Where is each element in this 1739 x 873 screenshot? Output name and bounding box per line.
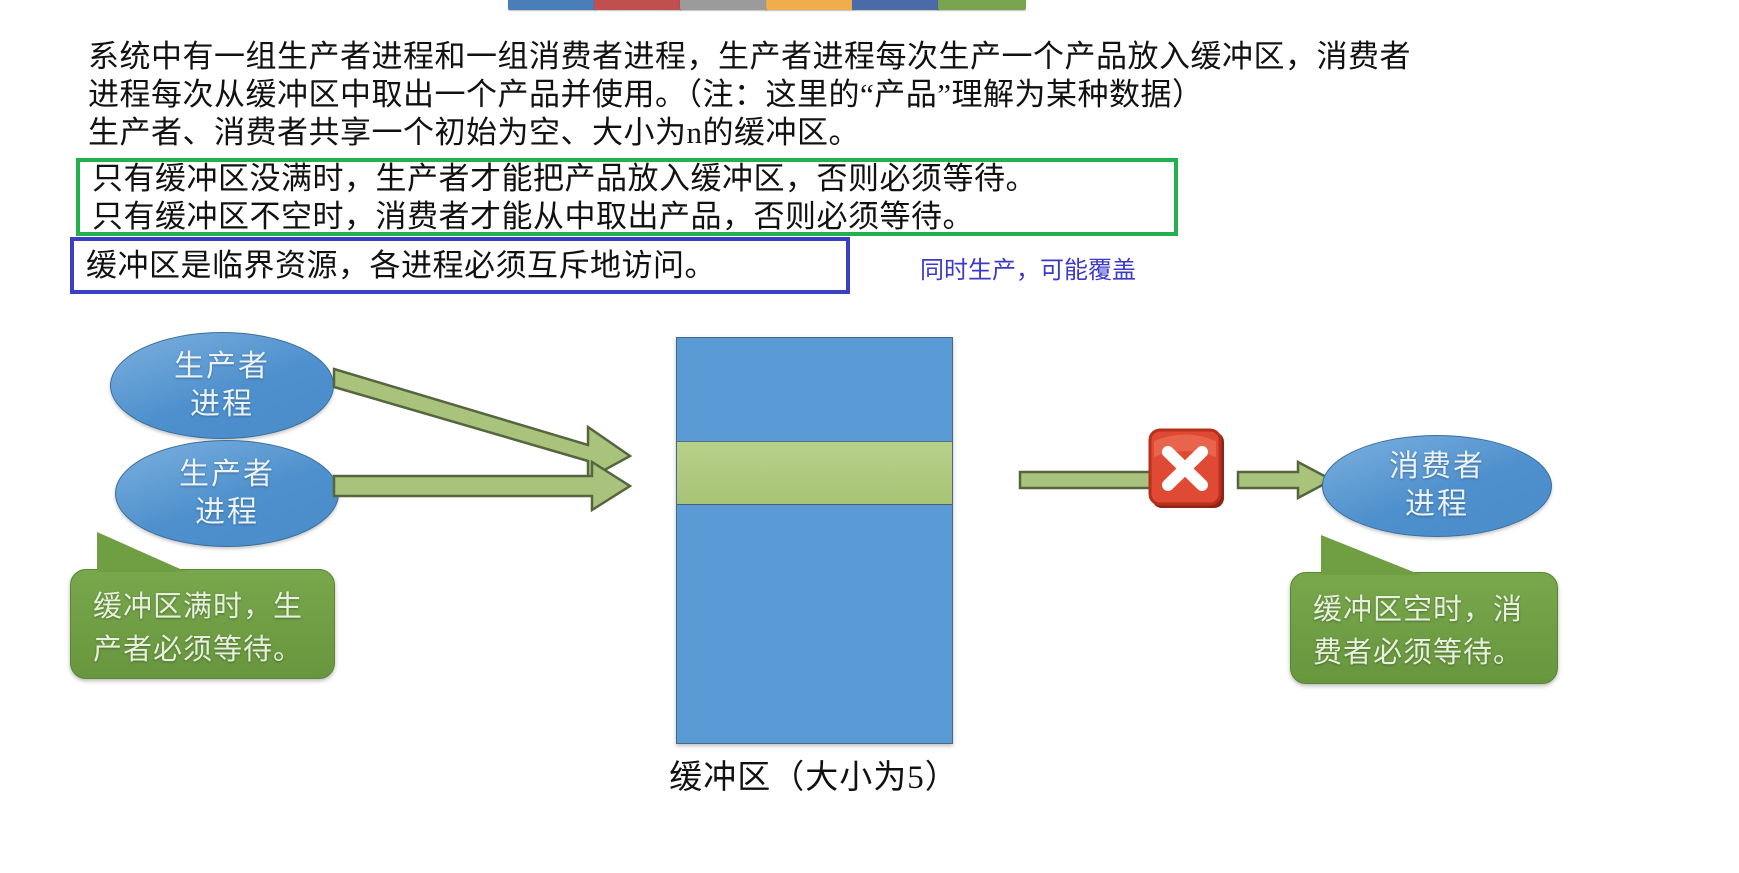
chip-navy <box>852 0 940 10</box>
producer-process-node-1: 生产者 进程 <box>110 332 334 439</box>
green-rule-line-1: 只有缓冲区没满时，生产者才能把产品放入缓冲区，否则必须等待。 <box>92 160 1037 198</box>
consumer-process-node: 消费者 进程 <box>1322 435 1552 537</box>
producer-1-label-line2: 进程 <box>190 386 254 424</box>
callout-left-line1: 缓冲区满时，生 <box>93 586 314 629</box>
callout-right-line1: 缓冲区空时，消 <box>1313 589 1537 632</box>
arrow-producer2-to-buffer <box>330 460 680 520</box>
green-rule-box: 只有缓冲区没满时，生产者才能把产品放入缓冲区，否则必须等待。 只有缓冲区不空时，… <box>76 158 1178 236</box>
chip-gray <box>680 0 768 10</box>
callout-buffer-full: 缓冲区满时，生 产者必须等待。 <box>70 569 335 679</box>
problem-line-1: 系统中有一组生产者进程和一组消费者进程，生产者进程每次生产一个产品放入缓冲区，消… <box>88 38 1688 76</box>
problem-line-2: 进程每次从缓冲区中取出一个产品并使用。（注：这里的“产品”理解为某种数据） <box>88 76 1688 114</box>
buffer-caption: 缓冲区（大小为5） <box>604 750 1024 798</box>
green-rule-line-2: 只有缓冲区不空时，消费者才能从中取出产品，否则必须等待。 <box>92 198 974 236</box>
chip-orange <box>594 0 682 10</box>
producer-2-label-line1: 生产者 <box>179 456 275 494</box>
arrow-blocked-to-consumer <box>1236 460 1336 500</box>
buffer-rectangle <box>676 337 953 744</box>
producer-process-node-2: 生产者 进程 <box>115 440 339 547</box>
callout-right-tail <box>1321 535 1421 575</box>
blue-rule-box: 缓冲区是临界资源，各进程必须互斥地访问。 <box>70 237 850 294</box>
chip-yellow <box>766 0 854 10</box>
producer-consumer-diagram: 生产者 进程 生产者 进程 缓冲区（大小为5） <box>0 310 1739 873</box>
buffer-filled-slot <box>677 441 952 505</box>
callout-right-line2: 费者必须等待。 <box>1313 632 1537 675</box>
error-x-icon <box>1148 427 1234 513</box>
top-color-strip <box>0 0 1739 16</box>
problem-line-3: 生产者、消费者共享一个初始为空、大小为n的缓冲区。 <box>88 114 1688 152</box>
blue-rule-line-1: 缓冲区是临界资源，各进程必须互斥地访问。 <box>86 247 716 285</box>
chip-green <box>938 0 1026 10</box>
consumer-label-line1: 消费者 <box>1389 448 1485 486</box>
consumer-label-line2: 进程 <box>1405 486 1469 524</box>
callout-left-line2: 产者必须等待。 <box>93 629 314 672</box>
callout-left-tail <box>97 532 187 572</box>
problem-statement: 系统中有一组生产者进程和一组消费者进程，生产者进程每次生产一个产品放入缓冲区，消… <box>88 38 1688 152</box>
producer-1-label-line1: 生产者 <box>174 348 270 386</box>
annotation-text: 同时生产，可能覆盖 <box>920 250 1136 285</box>
chip-blue <box>508 0 596 10</box>
callout-buffer-empty: 缓冲区空时，消 费者必须等待。 <box>1290 572 1558 684</box>
producer-2-label-line2: 进程 <box>195 494 259 532</box>
